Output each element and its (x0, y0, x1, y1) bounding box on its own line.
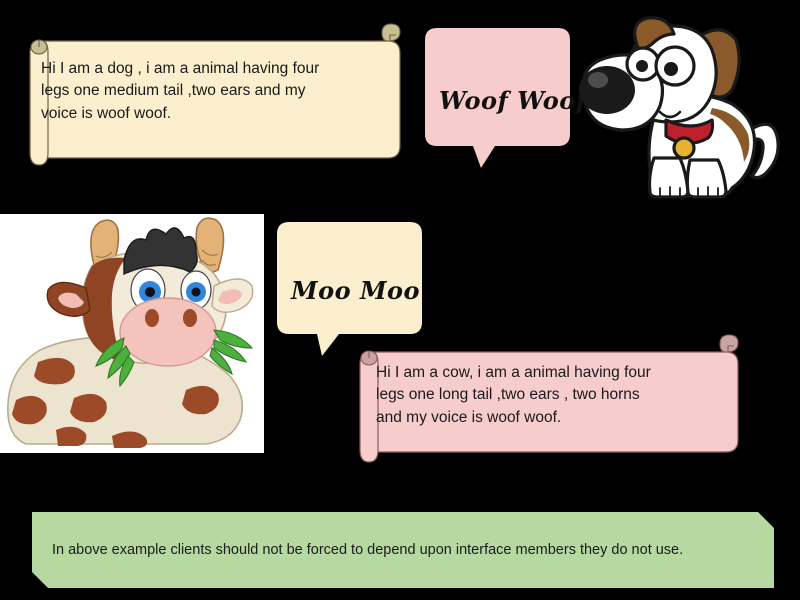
scroll-right-curl (382, 24, 400, 41)
cow-nostril-right (183, 309, 197, 327)
cow-description-text: Hi I am a cow, i am a animal having four… (376, 362, 731, 429)
cow-illustration[interactable] (0, 214, 264, 453)
dog-speech-bubble[interactable]: Woof Woof (425, 28, 575, 168)
dog-illustration[interactable] (572, 8, 794, 204)
cow-description-scroll[interactable]: Hi I am a cow, i am a animal having four… (346, 340, 744, 466)
dog-pupil-right (664, 62, 678, 76)
dog-collar-tag (674, 138, 694, 158)
dog-nose (579, 66, 635, 114)
cow-muzzle (120, 298, 216, 366)
scroll-right-curl (720, 335, 738, 352)
cow-nostril-left (145, 309, 159, 327)
conclusion-banner[interactable]: In above example clients should not be f… (32, 512, 774, 588)
conclusion-text: In above example clients should not be f… (52, 542, 683, 558)
cow-pupil-left (145, 287, 155, 297)
dog-speech-text: Woof Woof (439, 86, 587, 115)
slide-canvas: Hi I am a dog , i am a animal having fou… (0, 0, 800, 600)
dog-nose-highlight (588, 72, 608, 88)
dog-description-scroll[interactable]: Hi I am a dog , i am a animal having fou… (16, 28, 406, 166)
dog-description-text: Hi I am a dog , i am a animal having fou… (41, 58, 386, 125)
dog-front-leg-right (687, 160, 726, 197)
cow-pupil-right (192, 288, 201, 297)
dog-front-leg-left (650, 158, 689, 197)
dog-pupil-left (636, 60, 648, 72)
cow-speech-text: Moo Moo (291, 276, 420, 305)
